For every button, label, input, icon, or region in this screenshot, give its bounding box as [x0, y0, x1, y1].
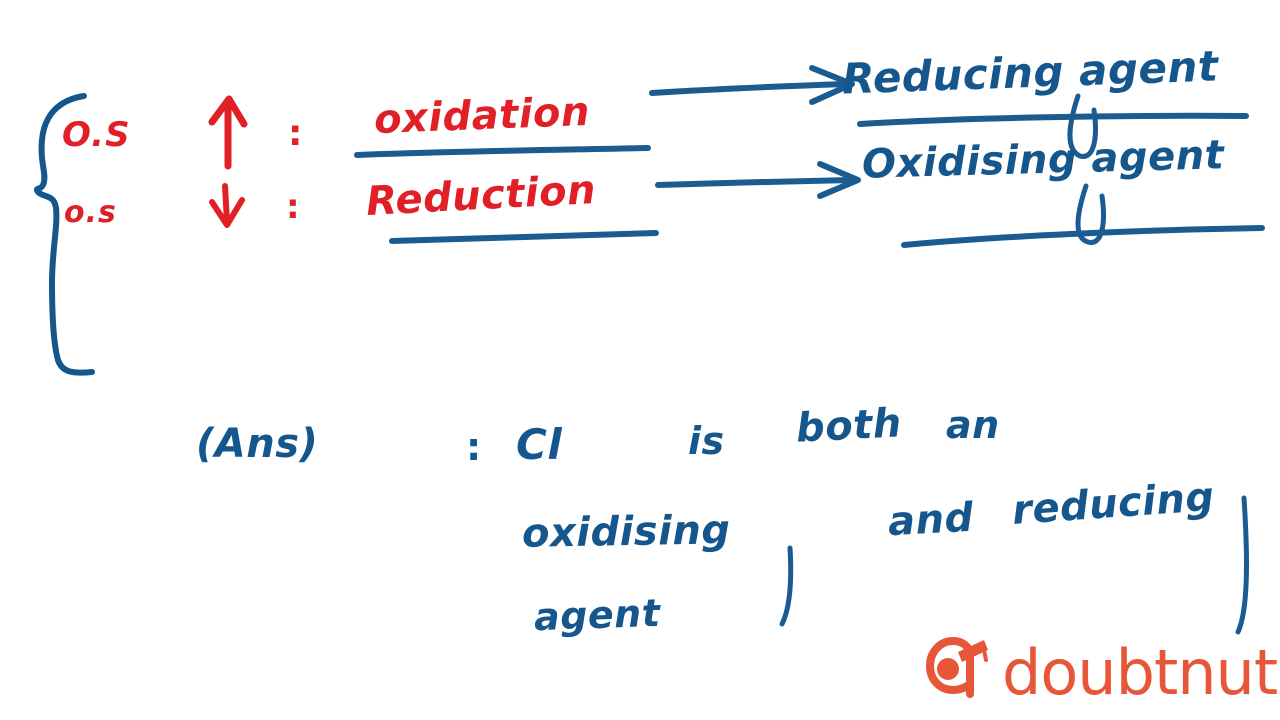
- descender-stroke-answer-oxidising: [782, 548, 791, 624]
- answer-species: Cl: [516, 424, 562, 466]
- reducing-agent-label: Reducing agent: [841, 45, 1219, 100]
- rule-colon-reduction: :: [286, 190, 300, 224]
- oxidation-state-down-label: o.s: [64, 198, 117, 228]
- process-reduction-label: Reduction: [365, 170, 597, 222]
- oxidising-agent-label: Oxidising agent: [862, 135, 1225, 184]
- arrow-up-icon: [212, 99, 244, 166]
- descender-stroke-answer-reducing: [1238, 498, 1246, 632]
- answer-label: (Ans): [196, 424, 318, 464]
- doubtnut-logo: doubtnut: [918, 636, 1277, 710]
- underline-reduction: [392, 233, 656, 241]
- answer-word-oxidising: oxidising: [522, 510, 731, 554]
- doubtnut-wordmark: doubtnut: [1002, 642, 1277, 704]
- underline-reducing-agent: [860, 116, 1246, 124]
- answer-word-is: is: [688, 422, 725, 460]
- answer-word-agent: agent: [533, 594, 661, 636]
- arrow-reduction-to-oxidising-agent: [658, 164, 858, 196]
- process-oxidation-label: oxidation: [373, 92, 590, 140]
- rule-colon-oxidation: :: [288, 116, 303, 152]
- arrow-down-icon: [212, 186, 242, 225]
- oxidation-state-up-label: O.S: [62, 118, 131, 152]
- answer-colon: :: [466, 428, 482, 466]
- arrow-oxidation-to-reducing-agent: [652, 68, 852, 102]
- answer-word-and: and: [887, 498, 975, 542]
- underline-oxidation: [357, 148, 648, 155]
- doubtnut-graduation-cap-icon: [918, 636, 992, 710]
- answer-word-an: an: [946, 406, 1000, 444]
- answer-word-both: both: [795, 403, 903, 448]
